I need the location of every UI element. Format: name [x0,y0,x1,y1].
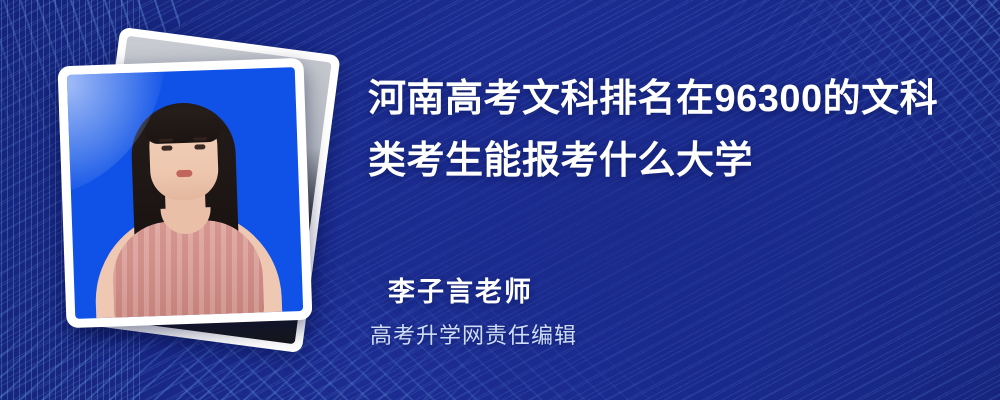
author-portrait-card [58,58,313,328]
portrait-eyebrow-right [193,137,207,140]
portrait-lips [176,170,192,178]
author-role: 高考升学网责任编辑 [370,318,577,350]
page-title-line-2: 类考生能报考什么大学 [368,130,948,192]
portrait-dress [111,218,264,319]
photo-card-stack [62,36,362,366]
author-name: 李子言老师 [388,270,533,309]
portrait-eyebrow-left [159,138,173,141]
portrait-fringe [144,108,221,145]
page-title-line-1: 河南高考文科排名在96300的文科 [368,68,948,130]
article-cover-banner: 河南高考文科排名在96300的文科 类考生能报考什么大学 李子言老师 高考升学网… [0,0,1000,400]
page-title: 河南高考文科排名在96300的文科 类考生能报考什么大学 [368,68,948,192]
cover-text-block: 河南高考文科排名在96300的文科 类考生能报考什么大学 李子言老师 高考升学网… [368,0,968,400]
avatar [67,67,303,319]
